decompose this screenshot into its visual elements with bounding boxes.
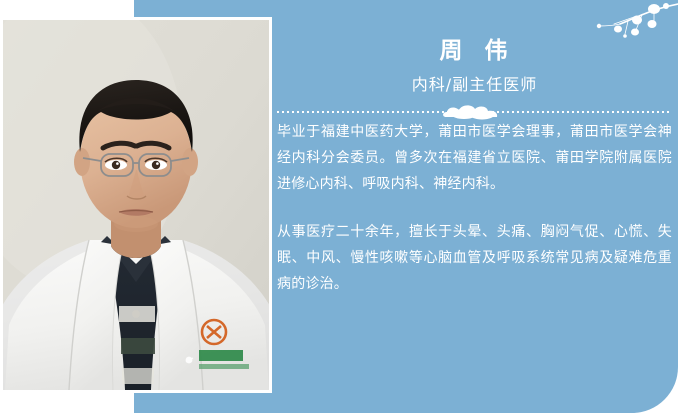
doctor-photo xyxy=(3,20,269,390)
dotted-divider xyxy=(277,106,672,120)
bio-paragraph-2: 从事医疗二十余年，擅长于头晕、头痛、胸闷气促、心慌、失眠、中风、慢性咳嗽等心脑血… xyxy=(277,219,672,297)
doctor-title: 内科/副主任医师 xyxy=(277,73,672,97)
doctor-profile-card: 周 伟 内科/副主任医师 毕业于福建中医药大学，莆田市医学会理事，莆田市医学会神… xyxy=(0,0,678,413)
cloud-icon xyxy=(442,104,508,120)
doctor-name: 周 伟 xyxy=(277,36,672,66)
doctor-bio: 毕业于福建中医药大学，莆田市医学会理事，莆田市医学会神经内科分会委员。曾多次在福… xyxy=(277,119,672,297)
doctor-info-column: 周 伟 内科/副主任医师 毕业于福建中医药大学，莆田市医学会理事，莆田市医学会神… xyxy=(277,0,672,413)
bio-paragraph-1: 毕业于福建中医药大学，莆田市医学会理事，莆田市医学会神经内科分会委员。曾多次在福… xyxy=(277,119,672,197)
doctor-photo-frame xyxy=(3,20,269,390)
